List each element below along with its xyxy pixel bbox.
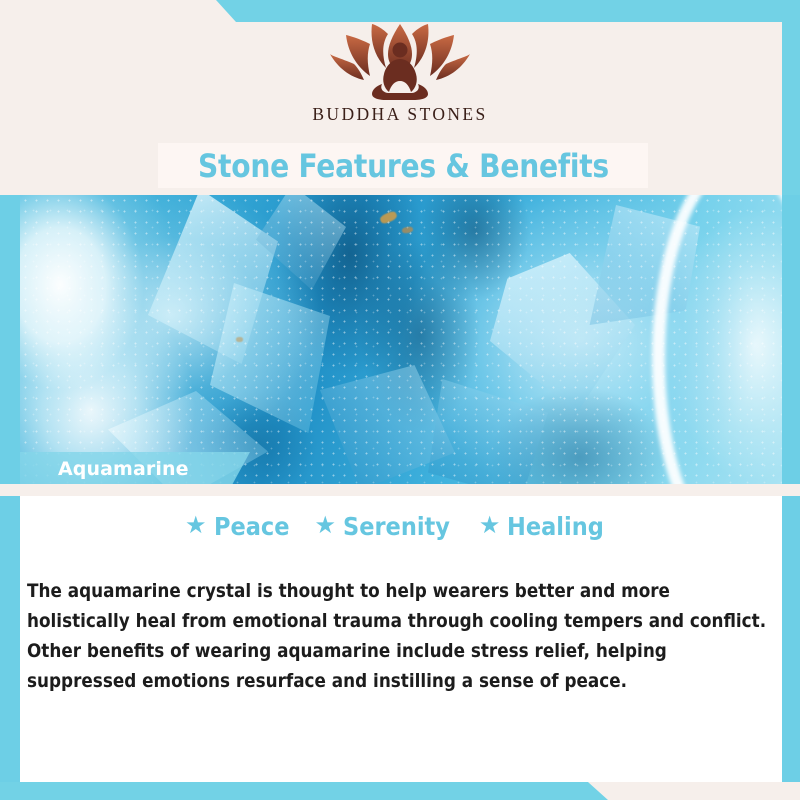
- stone-name-tag: Aquamarine: [20, 452, 250, 485]
- benefit-item-peace: ★ Peace: [185, 512, 297, 541]
- hero-image-frame: [0, 195, 800, 484]
- benefit-label: Healing: [507, 512, 604, 541]
- benefits-list: ★ Peace ★ Serenity ★ Healing: [0, 512, 800, 541]
- star-icon: ★: [185, 514, 207, 538]
- benefit-item-healing: ★ Healing: [479, 512, 615, 541]
- star-icon: ★: [479, 514, 501, 538]
- page-title: Stone Features & Benefits: [198, 147, 609, 185]
- photo-sparkle-layer: [20, 195, 782, 484]
- stone-name-label: Aquamarine: [20, 458, 189, 480]
- header-right-accent-strip: [782, 0, 800, 196]
- photo-left-accent-strip: [0, 195, 20, 484]
- benefit-label: Peace: [214, 512, 290, 541]
- page-title-banner: Stone Features & Benefits: [158, 143, 648, 188]
- photo-right-accent-strip: [782, 195, 800, 484]
- aquamarine-crystal-photo: [20, 195, 782, 484]
- star-icon: ★: [314, 514, 336, 538]
- benefit-item-serenity: ★ Serenity: [314, 512, 461, 541]
- benefit-label: Serenity: [343, 512, 450, 541]
- bottom-cream-wedge: [588, 782, 800, 800]
- divider-strip: [0, 484, 800, 496]
- content-area: ★ Peace ★ Serenity ★ Healing The aquamar…: [0, 496, 800, 782]
- stone-benefits-poster: BUDDHA STONES Stone Features & Benefits: [0, 0, 800, 800]
- description-paragraph: The aquamarine crystal is thought to hel…: [27, 577, 769, 697]
